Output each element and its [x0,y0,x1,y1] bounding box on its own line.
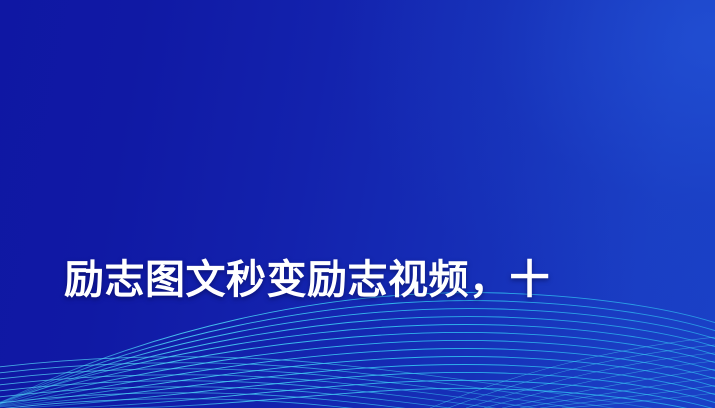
title-line-1: 励志图文秒变励志视频，十 [64,238,688,322]
promo-banner: 励志图文秒变励志视频，十 分钟一条原创视频 ，百分百 原创批量玩法，日入1000… [0,0,715,408]
page-title: 励志图文秒变励志视频，十 分钟一条原创视频 ，百分百 原创批量玩法，日入1000… [64,70,688,408]
